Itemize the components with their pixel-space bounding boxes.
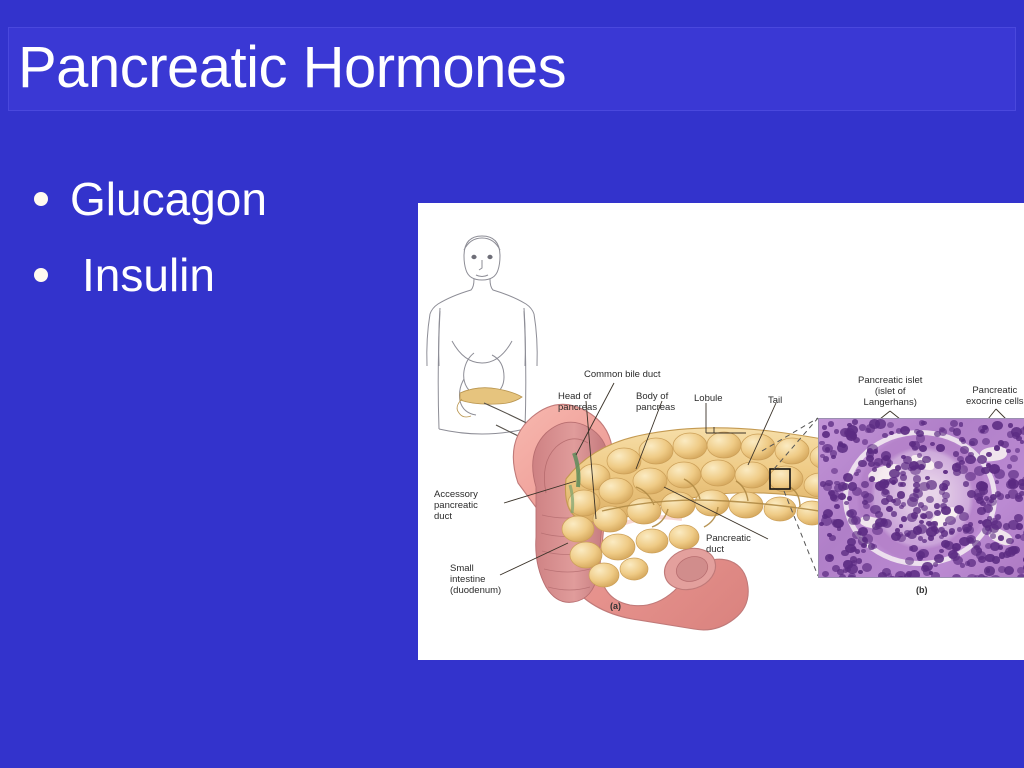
label-pancreatic-exocrine-cells: Pancreatic exocrine cells (966, 385, 1024, 407)
bullet-label: Glucagon (70, 170, 267, 228)
label-small-intestine: Small intestine (duodenum) (450, 563, 501, 596)
panel-letter-a: (a) (610, 601, 621, 611)
label-body-of-pancreas: Body of pancreas (636, 391, 675, 413)
bullet-list: Glucagon Insulin (34, 170, 394, 322)
slide-canvas: Pancreatic Hormones Glucagon Insulin (0, 0, 1024, 768)
list-item: Insulin (34, 246, 394, 304)
panel-letter-b: (b) (916, 585, 928, 595)
label-accessory-pancreatic-duct: Accessory pancreatic duct (434, 489, 478, 522)
label-pancreatic-islet: Pancreatic islet (islet of Langerhans) (858, 375, 922, 408)
label-tail: Tail (768, 395, 782, 406)
figure-image-panel: Common bile duct Head of pancreas Body o… (418, 203, 1024, 660)
bullet-dot-icon (34, 192, 48, 206)
bullet-dot-icon (34, 268, 48, 282)
histology-micrograph (818, 418, 1024, 578)
bullet-label: Insulin (70, 246, 215, 304)
label-common-bile-duct: Common bile duct (584, 369, 661, 380)
label-lobule: Lobule (694, 393, 723, 404)
figure-content: Common bile duct Head of pancreas Body o… (418, 203, 1024, 660)
page-title: Pancreatic Hormones (18, 32, 566, 104)
list-item: Glucagon (34, 170, 394, 228)
label-head-of-pancreas: Head of pancreas (558, 391, 597, 413)
label-pancreatic-duct: Pancreatic duct (706, 533, 751, 555)
